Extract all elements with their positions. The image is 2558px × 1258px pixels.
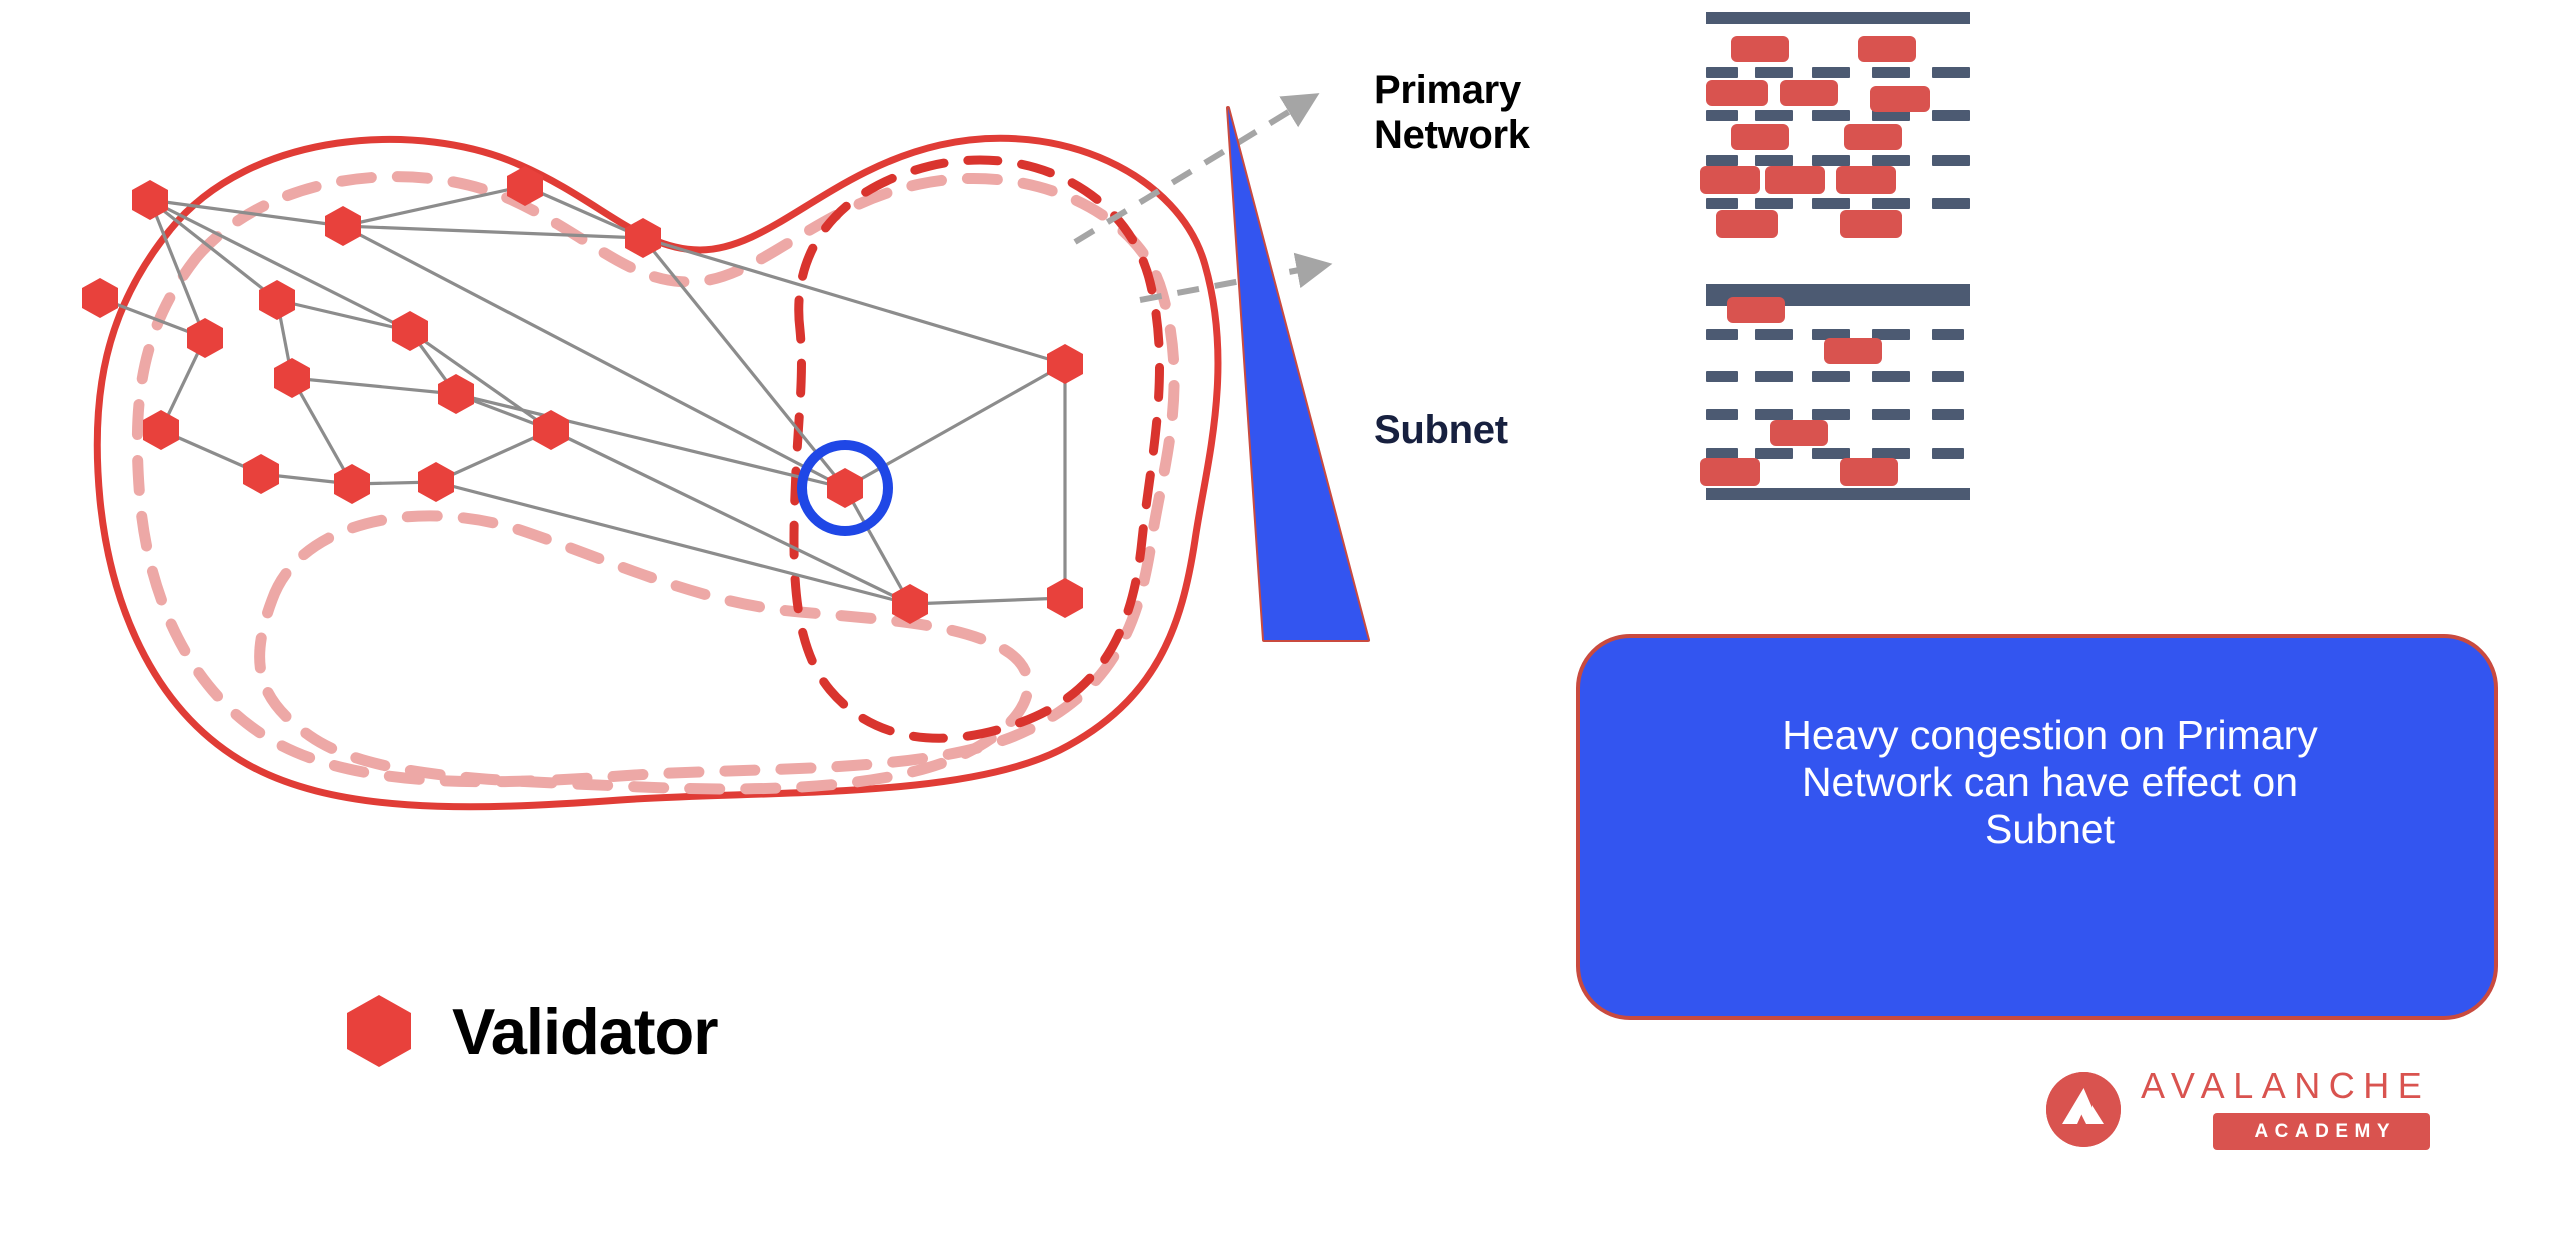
label-primary-network: Primary Network	[1374, 68, 1674, 158]
avalanche-academy-logo: AVALANCHE ACADEMY	[2046, 1068, 2430, 1150]
label-primary-network-line2: Network	[1374, 113, 1674, 158]
validator-node	[1047, 578, 1083, 618]
legend-label: Validator	[452, 994, 718, 1069]
validator-node	[82, 278, 118, 318]
primary-network-lobe-dashed	[260, 516, 1029, 789]
validator-node	[1047, 344, 1083, 384]
hexagon-icon	[344, 993, 414, 1069]
validator-node	[132, 180, 168, 220]
diagram-canvas: Primary Network Subnet Validator Heavy c…	[0, 0, 2558, 1258]
logo-text-group: AVALANCHE ACADEMY	[2141, 1068, 2430, 1150]
subnet-ledger	[1700, 285, 1970, 500]
validator-node	[418, 462, 454, 502]
avalanche-triangle-icon	[2046, 1072, 2121, 1147]
validator-node	[274, 358, 310, 398]
validator-node	[187, 318, 223, 358]
callout-text: Heavy congestion on Primary Network can …	[1600, 712, 2500, 853]
callout-line-2: Network can have effect on	[1600, 759, 2500, 806]
callout-line-1: Heavy congestion on Primary	[1600, 712, 2500, 759]
validator-node	[259, 280, 295, 320]
validator-node	[392, 311, 428, 351]
logo-wordmark: AVALANCHE	[2141, 1068, 2430, 1104]
validator-node	[533, 410, 569, 450]
validator-node	[438, 374, 474, 414]
primary-network-ledger	[1700, 12, 1970, 296]
callout-line-3: Subnet	[1600, 806, 2500, 853]
logo-academy-badge: ACADEMY	[2213, 1113, 2430, 1150]
validator-node	[243, 454, 279, 494]
validator-node	[143, 410, 179, 450]
label-primary-network-line1: Primary	[1374, 68, 1674, 113]
validator-node	[334, 464, 370, 504]
validator-edges	[100, 186, 1065, 604]
avalanche-mark-icon	[2046, 1072, 2121, 1147]
legend: Validator	[344, 993, 718, 1069]
callout-bubble	[1228, 108, 2496, 1018]
leader-arrows	[1075, 105, 1310, 300]
label-subnet: Subnet	[1374, 408, 1508, 453]
validator-node	[325, 206, 361, 246]
